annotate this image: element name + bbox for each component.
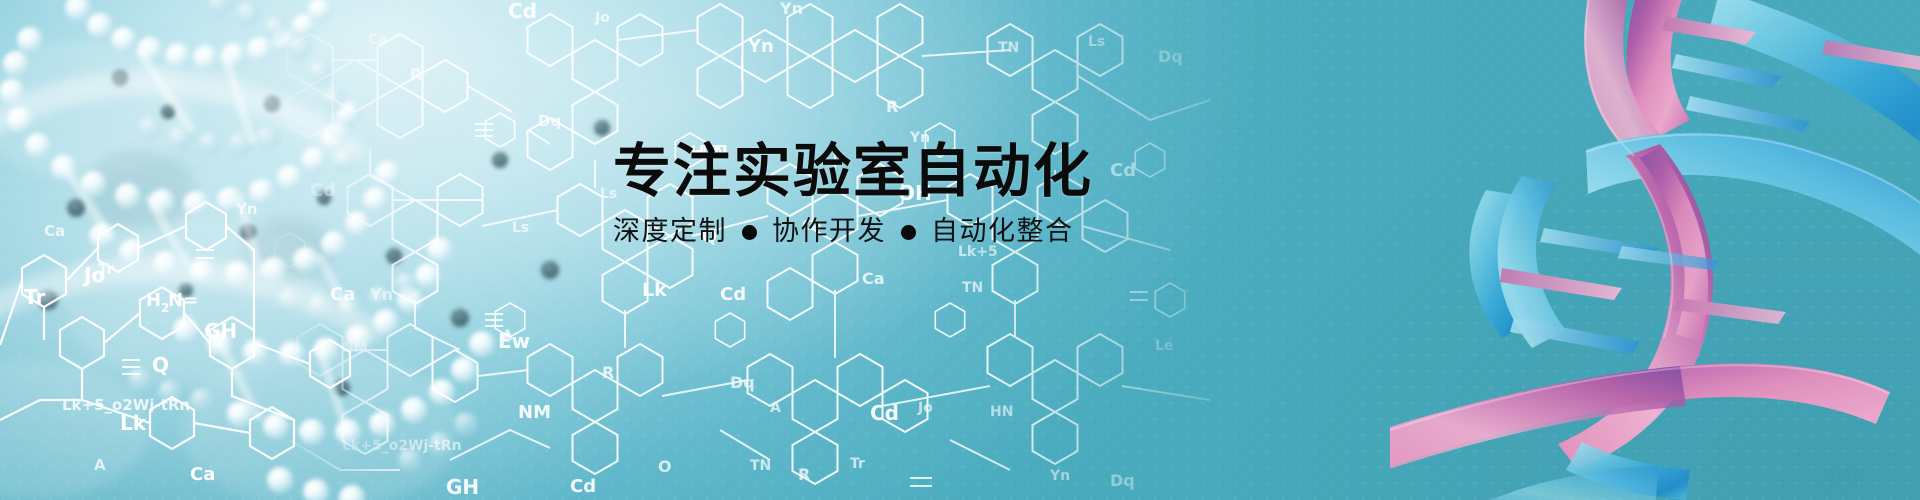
svg-text:OH: OH bbox=[898, 181, 932, 205]
hero-banner: Cd Jo Yn Yn Ca R Yn TN Ls Dq R Dq H 2 N … bbox=[0, 0, 1920, 500]
svg-text:Lk: Lk bbox=[642, 279, 667, 301]
svg-text:Yn: Yn bbox=[1049, 468, 1070, 484]
svg-text:Tr: Tr bbox=[850, 456, 865, 472]
svg-text:Jo: Jo bbox=[917, 400, 933, 416]
svg-text:Yn: Yn bbox=[909, 130, 930, 146]
svg-text:N=: N= bbox=[168, 290, 198, 311]
svg-text:TN: TN bbox=[750, 458, 771, 474]
svg-text:Yn: Yn bbox=[779, 0, 803, 18]
svg-text:Ls: Ls bbox=[512, 220, 529, 236]
svg-text:NM: NM bbox=[518, 402, 551, 423]
svg-text:Tr: Tr bbox=[98, 260, 115, 278]
svg-text:Dq: Dq bbox=[538, 112, 561, 130]
svg-text:Cd: Cd bbox=[870, 401, 899, 425]
svg-text:TN: TN bbox=[998, 40, 1019, 56]
svg-text:GH: GH bbox=[204, 319, 237, 343]
svg-text:Ca: Ca bbox=[190, 464, 215, 485]
svg-text:Jo: Jo bbox=[594, 10, 610, 26]
svg-text:Ls: Ls bbox=[600, 186, 617, 202]
svg-text:H: H bbox=[690, 142, 705, 163]
svg-text:Q: Q bbox=[152, 353, 169, 377]
svg-text:Cd: Cd bbox=[1110, 160, 1136, 181]
svg-text:Q: Q bbox=[702, 226, 717, 247]
svg-text:Ca: Ca bbox=[330, 284, 355, 305]
svg-text:Dq: Dq bbox=[1110, 471, 1135, 490]
svg-text:Lk+5: Lk+5 bbox=[958, 244, 998, 260]
svg-text:Ew: Ew bbox=[498, 329, 530, 353]
svg-text:Cd: Cd bbox=[570, 476, 596, 497]
svg-text:Ca: Ca bbox=[862, 269, 885, 288]
svg-text:O: O bbox=[658, 457, 672, 476]
svg-text:Dq: Dq bbox=[730, 373, 755, 392]
svg-text:Yn: Yn bbox=[235, 200, 258, 218]
svg-text:R: R bbox=[798, 465, 810, 484]
left-chemical-structure: Tr Jo Tr H 2 N= GH Q Lk+5_o2Wj-tRn Lk Ca… bbox=[0, 0, 420, 500]
svg-text:Dq: Dq bbox=[1158, 47, 1183, 66]
svg-text:N: N bbox=[713, 142, 728, 163]
svg-text:Cd: Cd bbox=[508, 0, 537, 23]
svg-text:A: A bbox=[94, 456, 106, 474]
svg-text:H: H bbox=[146, 290, 161, 311]
svg-text:HN: HN bbox=[990, 404, 1013, 420]
svg-text:Le: Le bbox=[1155, 338, 1173, 354]
svg-text:Yn: Yn bbox=[747, 36, 774, 57]
svg-text:Lk: Lk bbox=[120, 411, 147, 435]
svg-text:R: R bbox=[602, 363, 614, 382]
svg-text:Ca: Ca bbox=[802, 218, 822, 234]
svg-text:Ls: Ls bbox=[1088, 34, 1105, 50]
color-dna-helix bbox=[1390, 0, 1920, 500]
svg-text:Ca: Ca bbox=[44, 222, 65, 240]
svg-text:Tr: Tr bbox=[24, 285, 45, 309]
svg-text:Cd: Cd bbox=[720, 284, 746, 305]
svg-text:GH: GH bbox=[446, 475, 479, 499]
svg-text:R: R bbox=[886, 97, 898, 116]
svg-text:TN: TN bbox=[962, 280, 983, 296]
svg-text:A: A bbox=[770, 400, 781, 416]
